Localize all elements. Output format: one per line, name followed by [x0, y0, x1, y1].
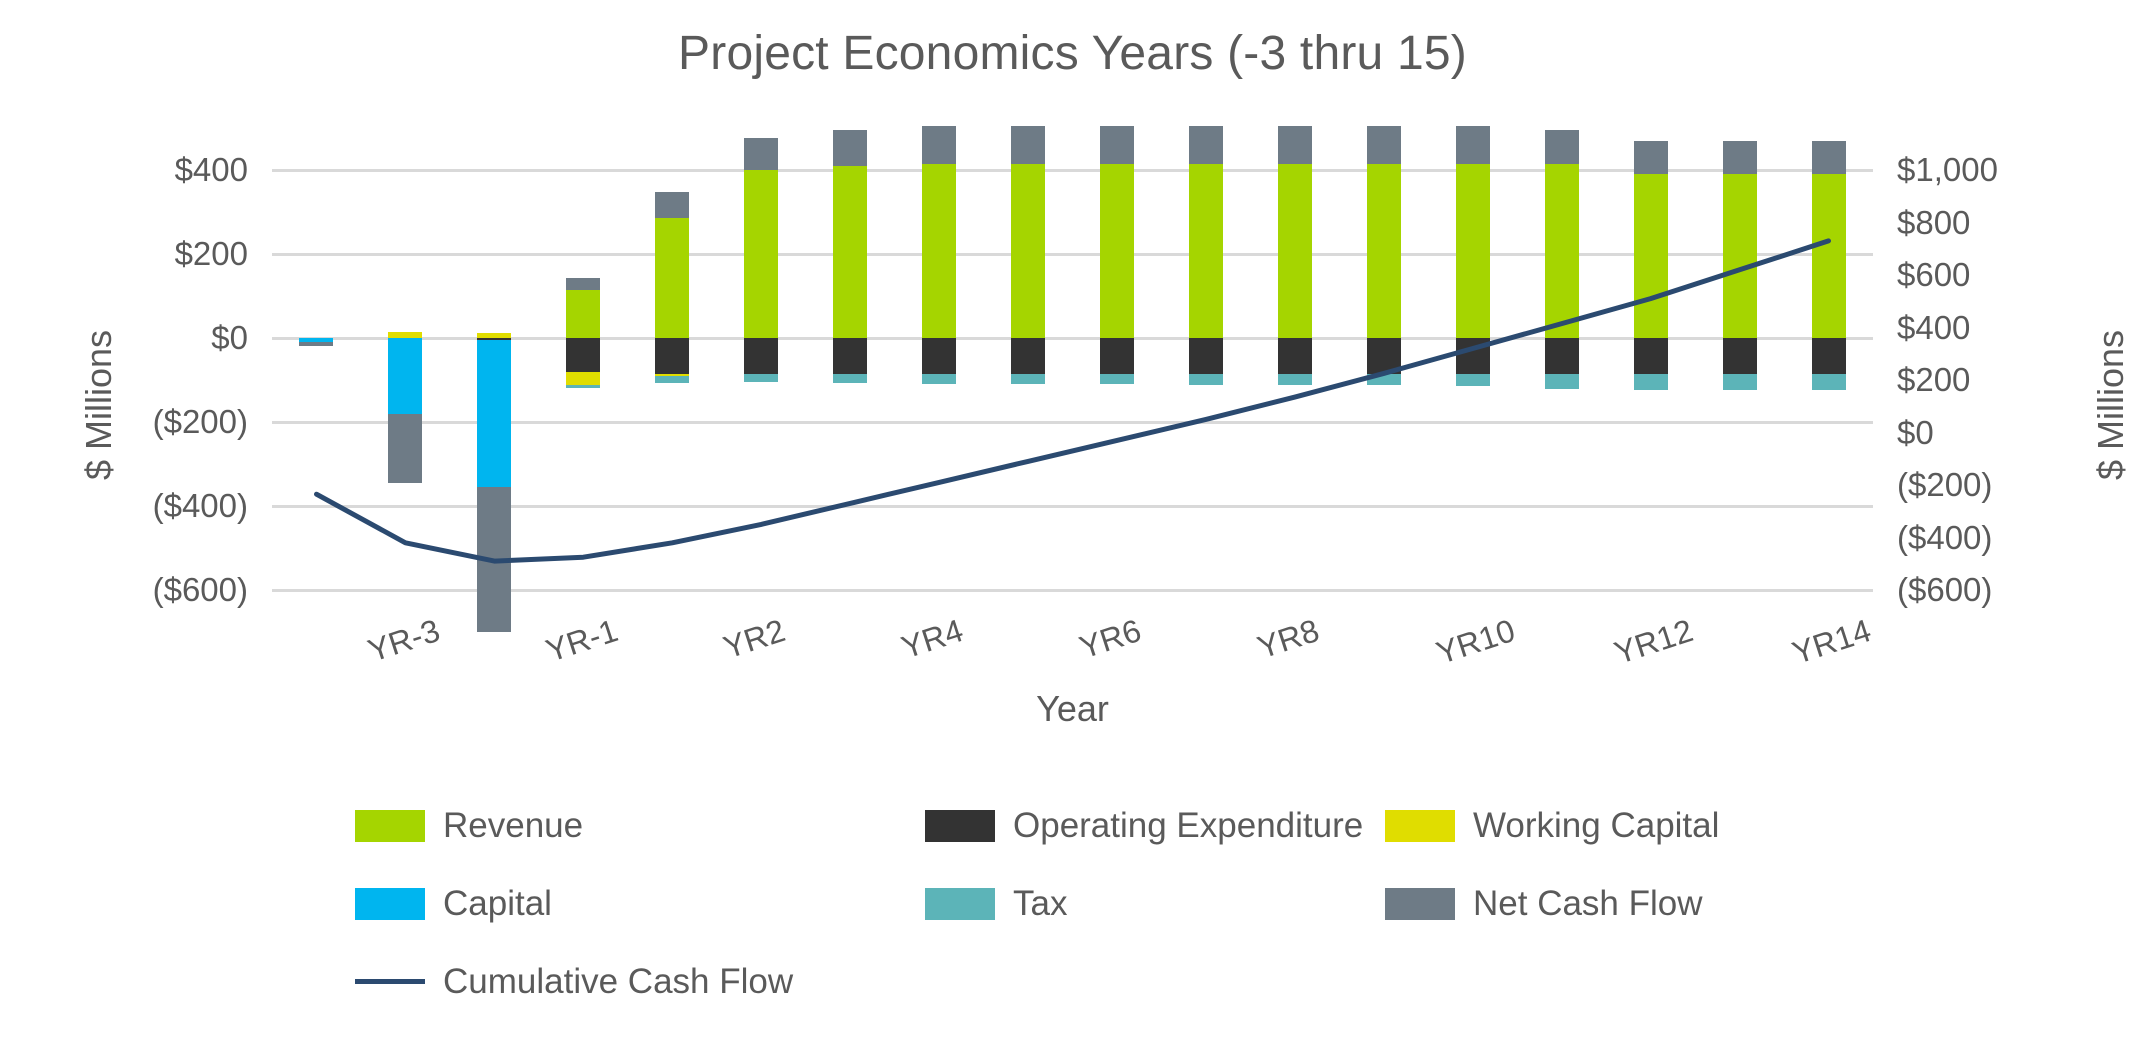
legend-item-label: Working Capital — [1473, 808, 1719, 843]
legend-color-swatch-icon — [355, 888, 425, 920]
y-axis-left-tick-label: ($400) — [153, 487, 248, 525]
legend-item[interactable]: Net Cash Flow — [1385, 886, 1703, 921]
y-axis-right-tick-label: ($600) — [1897, 571, 1992, 609]
legend-item-label: Tax — [1013, 886, 1067, 921]
y-axis-left-tick-label: ($600) — [153, 571, 248, 609]
legend-item[interactable]: Tax — [925, 886, 1067, 921]
bar-segment — [1011, 126, 1045, 164]
y-axis-left-tick-label: $400 — [175, 151, 248, 189]
y-axis-left-tick-label: $0 — [211, 319, 248, 357]
legend-color-swatch-icon — [1385, 888, 1455, 920]
bar-segment — [1545, 130, 1579, 164]
x-axis-tick-label: YR10 — [1432, 612, 1520, 672]
bar-segment — [922, 126, 956, 164]
y-axis-right-tick-label: ($400) — [1897, 519, 1992, 557]
x-axis-tick-label: YR2 — [719, 612, 790, 666]
bar-segment — [744, 138, 778, 170]
y-axis-title-right: $ Millions — [2090, 330, 2132, 480]
y-axis-right-tick-label: $1,000 — [1897, 151, 1998, 189]
legend-color-swatch-icon — [925, 888, 995, 920]
y-axis-right-tick-label: ($200) — [1897, 466, 1992, 504]
y-axis-left-tick-label: ($200) — [153, 403, 248, 441]
bar-segment — [1189, 126, 1223, 164]
x-axis-tick-label: YR14 — [1787, 612, 1875, 672]
x-axis-tick-label: YR4 — [897, 612, 968, 666]
legend-item[interactable]: Cumulative Cash Flow — [355, 964, 793, 999]
bar-segment — [1278, 126, 1312, 164]
y-axis-right-tick-label: $600 — [1897, 256, 1970, 294]
cumulative-cash-flow-line — [272, 170, 1873, 590]
legend-color-swatch-icon — [355, 810, 425, 842]
y-axis-left-tick-label: $200 — [175, 235, 248, 273]
legend-item-label: Cumulative Cash Flow — [443, 964, 793, 999]
y-axis-right-tick-label: $400 — [1897, 309, 1970, 347]
y-axis-title-left: $ Millions — [78, 330, 120, 480]
plot-area — [272, 170, 1873, 590]
legend-item[interactable]: Revenue — [355, 808, 583, 843]
legend-item[interactable]: Capital — [355, 886, 552, 921]
chart-container: Project Economics Years (-3 thru 15) $ M… — [0, 0, 2145, 1061]
legend-item[interactable]: Operating Expenditure — [925, 808, 1363, 843]
x-axis-tick-label: YR8 — [1253, 612, 1324, 666]
legend-line-swatch-icon — [355, 979, 425, 984]
bar-segment — [1367, 126, 1401, 164]
legend-color-swatch-icon — [1385, 810, 1455, 842]
x-axis-title: Year — [0, 688, 2145, 730]
bar-segment — [1100, 126, 1134, 164]
legend-item-label: Revenue — [443, 808, 583, 843]
x-axis-tick-label: YR-1 — [542, 612, 623, 670]
y-axis-right-tick-label: $0 — [1897, 414, 1934, 452]
chart-legend: RevenueOperating ExpenditureWorking Capi… — [0, 808, 2145, 1048]
legend-item-label: Net Cash Flow — [1473, 886, 1703, 921]
legend-item-label: Operating Expenditure — [1013, 808, 1363, 843]
bar-segment — [1456, 126, 1490, 164]
legend-item[interactable]: Working Capital — [1385, 808, 1719, 843]
bar-segment — [833, 130, 867, 166]
chart-title: Project Economics Years (-3 thru 15) — [0, 26, 2145, 81]
y-axis-right-tick-label: $800 — [1897, 204, 1970, 242]
y-axis-right-tick-label: $200 — [1897, 361, 1970, 399]
legend-item-label: Capital — [443, 886, 552, 921]
x-axis-tick-label: YR12 — [1610, 612, 1698, 672]
x-axis-tick-label: YR-3 — [364, 612, 445, 670]
x-axis-tick-label: YR6 — [1075, 612, 1146, 666]
legend-color-swatch-icon — [925, 810, 995, 842]
